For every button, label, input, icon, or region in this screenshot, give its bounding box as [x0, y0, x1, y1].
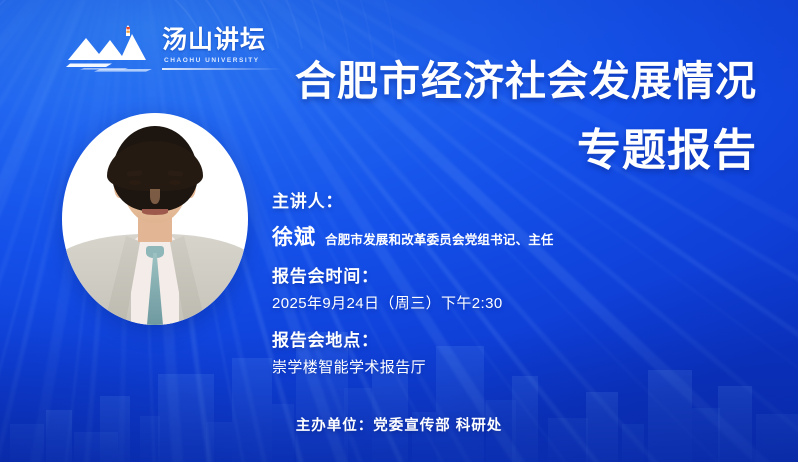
venue-label: 报告会地点：: [272, 329, 672, 353]
speaker-name: 徐斌: [272, 221, 316, 251]
logo-text: 汤山讲坛 CHAOHU UNIVERSITY: [162, 25, 266, 65]
event-details: 主讲人： 徐斌 合肥市发展和改革委员会党组书记、主任 报告会时间： 2025年9…: [272, 190, 672, 379]
poster-headline: 合肥市经济社会发展情况 专题报告: [295, 56, 757, 178]
time-block: 报告会时间： 2025年9月24日（周三）下午2:30: [272, 265, 672, 315]
speaker-portrait: [62, 113, 248, 325]
portrait-nose: [150, 189, 159, 204]
organizer-line: 主办单位：党委宣传部 科研处: [0, 414, 798, 435]
portrait-illustration: [62, 113, 248, 325]
portrait-eye-left: [129, 180, 141, 185]
logo-name-cn: 汤山讲坛: [162, 25, 266, 55]
venue-block: 报告会地点： 崇学楼智能学术报告厅: [272, 329, 672, 379]
brand-logo: 汤山讲坛 CHAOHU UNIVERSITY: [66, 24, 242, 76]
time-value: 2025年9月24日（周三）下午2:30: [272, 293, 672, 315]
mountain-logo-icon: [66, 24, 166, 74]
portrait-mouth: [142, 209, 168, 215]
headline-line-1: 合肥市经济社会发展情况: [295, 56, 757, 106]
portrait-eye-right: [169, 180, 181, 185]
logo-underline: [162, 68, 282, 70]
time-label: 报告会时间：: [272, 265, 672, 289]
event-poster: 汤山讲坛 CHAOHU UNIVERSITY 合肥市经济社会发展情况 专题报告: [0, 0, 798, 462]
logo-name-en: CHAOHU UNIVERSITY: [162, 56, 266, 65]
speaker-role: 合肥市发展和改革委员会党组书记、主任: [325, 229, 554, 248]
speaker-row: 徐斌 合肥市发展和改革委员会党组书记、主任: [272, 221, 672, 251]
venue-value: 崇学楼智能学术报告厅: [272, 357, 672, 379]
speaker-label: 主讲人：: [272, 190, 672, 214]
headline-line-2: 专题报告: [295, 124, 757, 178]
